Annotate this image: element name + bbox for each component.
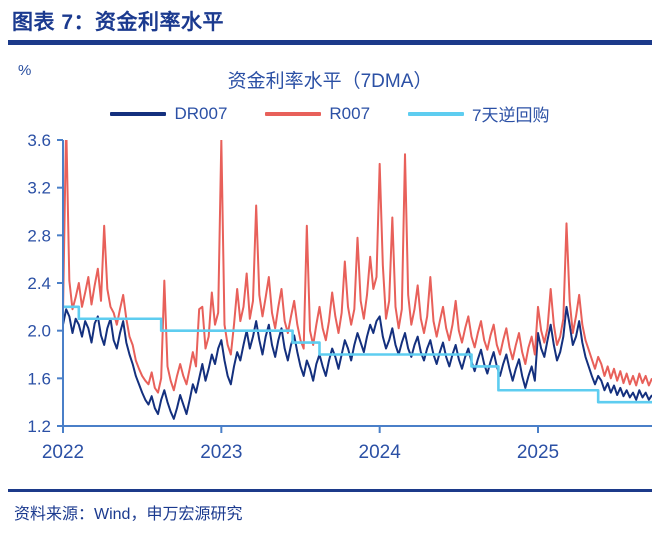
- svg-text:2025: 2025: [517, 442, 559, 463]
- legend-swatch-reverse-repo: [408, 112, 464, 116]
- svg-text:1.6: 1.6: [27, 369, 51, 388]
- footer-divider: [8, 489, 652, 492]
- plot-area: 1.21.62.02.42.83.23.62022202320242025: [0, 118, 660, 468]
- legend-swatch-dr007: [110, 112, 166, 116]
- figure-root: 图表 7：资金利率水平 % 资金利率水平（7DMA） DR007 R007 7天…: [0, 0, 660, 535]
- svg-text:2.0: 2.0: [27, 322, 51, 341]
- svg-text:2023: 2023: [200, 442, 242, 463]
- svg-text:3.6: 3.6: [27, 131, 51, 150]
- svg-text:2022: 2022: [42, 442, 84, 463]
- svg-text:3.2: 3.2: [27, 179, 51, 198]
- chart-title: 资金利率水平（7DMA）: [0, 66, 660, 93]
- svg-text:2024: 2024: [359, 442, 402, 463]
- legend-swatch-r007: [265, 112, 321, 116]
- svg-text:1.2: 1.2: [27, 417, 51, 436]
- line-chart-svg: 1.21.62.02.42.83.23.62022202320242025: [0, 118, 660, 468]
- svg-text:2.8: 2.8: [27, 226, 51, 245]
- title-divider: [8, 40, 652, 45]
- svg-text:2.4: 2.4: [27, 274, 51, 293]
- source-note: 资料来源：Wind，申万宏源研究: [14, 500, 242, 524]
- figure-title: 图表 7：资金利率水平: [12, 6, 224, 36]
